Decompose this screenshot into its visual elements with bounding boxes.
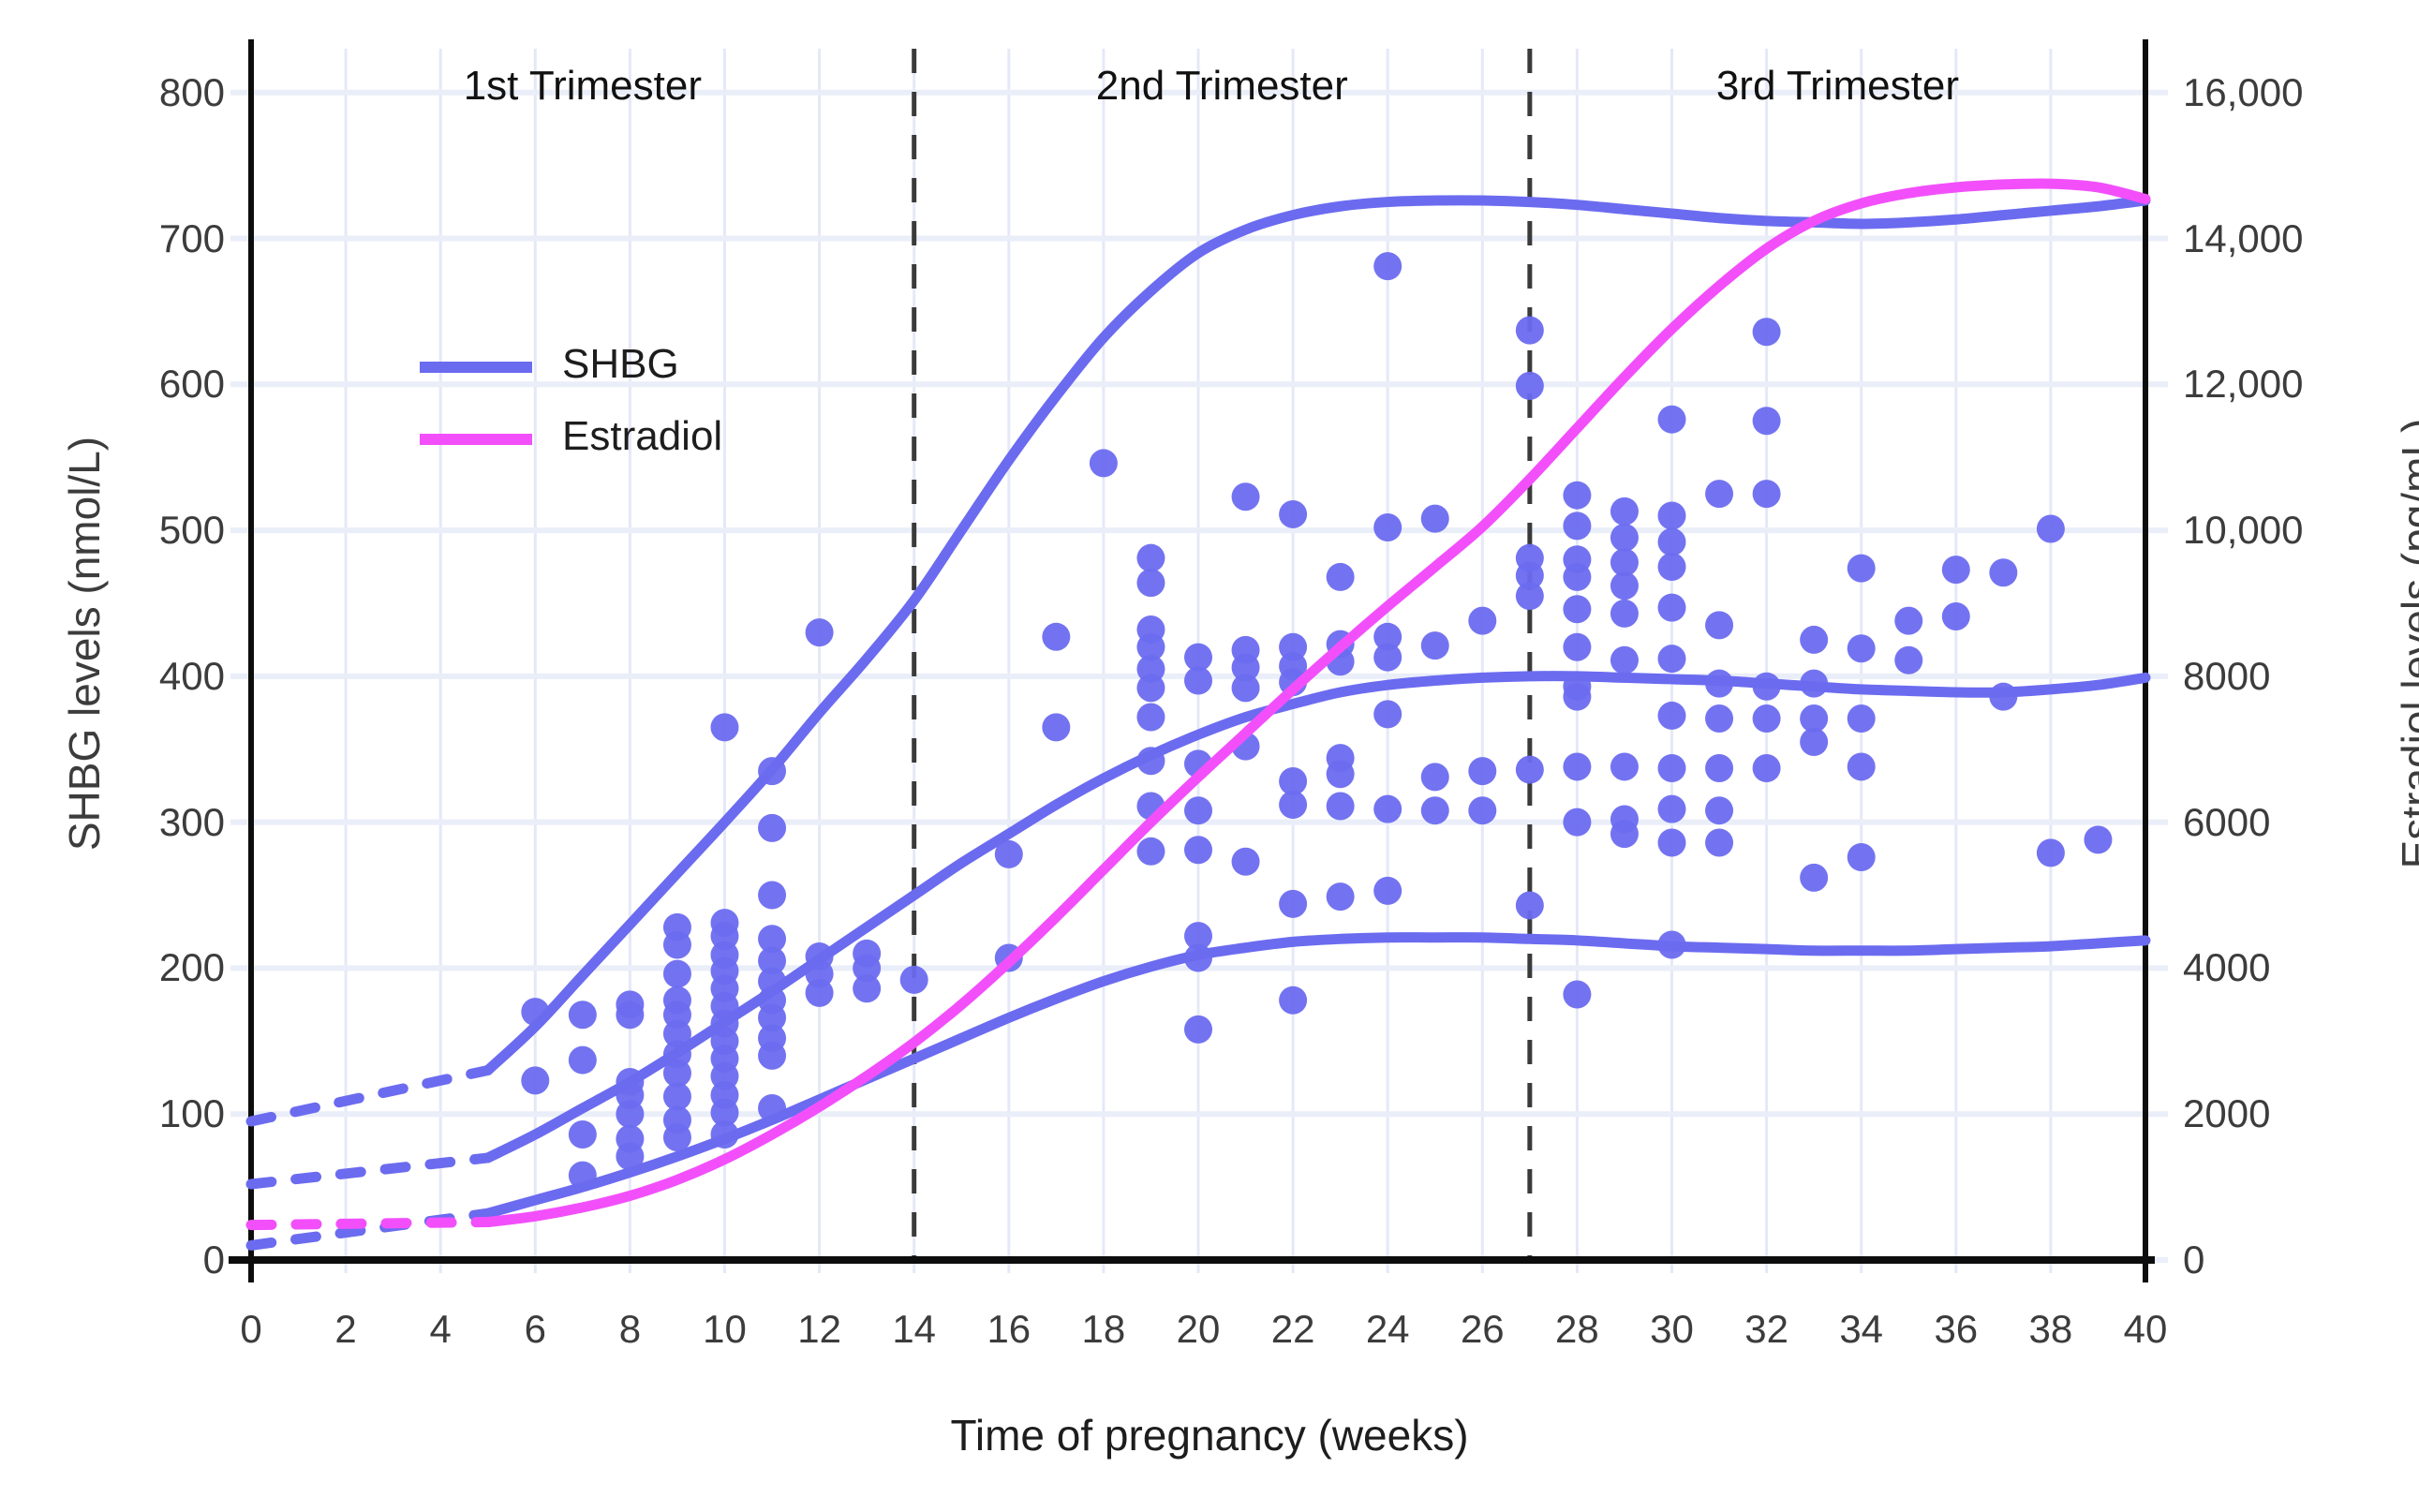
scatter-points bbox=[521, 252, 2112, 1190]
x-tick-label-8: 8 bbox=[619, 1307, 641, 1352]
x-tick-label-2: 2 bbox=[334, 1307, 356, 1352]
annotation-2nd-trimester: 2nd Trimester bbox=[1096, 63, 1348, 110]
x-axis-title: Time of pregnancy (weeks) bbox=[0, 1410, 2419, 1460]
x-tick-label-20: 20 bbox=[1177, 1307, 1221, 1352]
x-tick-label-10: 10 bbox=[703, 1307, 747, 1352]
y-left-tick-label-400: 400 bbox=[56, 654, 225, 699]
y-left-tick-label-100: 100 bbox=[56, 1091, 225, 1136]
y-right-tick-label-10000: 10,000 bbox=[2183, 508, 2303, 553]
x-tick-label-12: 12 bbox=[797, 1307, 841, 1352]
x-tick-label-26: 26 bbox=[1461, 1307, 1505, 1352]
chart-root: SHBG levels (nmol/L) Estradiol levels (p… bbox=[0, 0, 2419, 1512]
annotation-1st-trimester: 1st Trimester bbox=[464, 63, 702, 110]
x-tick-label-24: 24 bbox=[1366, 1307, 1410, 1352]
y-right-tick-label-16000: 16,000 bbox=[2183, 70, 2303, 115]
y-axis-right-title: Estradiol levels (pg/mL) bbox=[2392, 316, 2419, 971]
legend-swatches bbox=[420, 367, 532, 439]
x-tick-label-34: 34 bbox=[1839, 1307, 1883, 1352]
y-right-tick-label-12000: 12,000 bbox=[2183, 362, 2303, 407]
y-right-tick-label-14000: 14,000 bbox=[2183, 216, 2303, 261]
y-right-tick-label-0: 0 bbox=[2183, 1238, 2204, 1282]
x-tick-label-16: 16 bbox=[987, 1307, 1031, 1352]
y-left-tick-label-300: 300 bbox=[56, 800, 225, 845]
annotation-3rd-trimester: 3rd Trimester bbox=[1716, 63, 1959, 110]
y-right-tick-label-4000: 4000 bbox=[2183, 945, 2270, 990]
y-left-tick-label-700: 700 bbox=[56, 216, 225, 261]
chart-canvas bbox=[0, 0, 2419, 1512]
x-tick-label-22: 22 bbox=[1271, 1307, 1315, 1352]
x-tick-label-30: 30 bbox=[1650, 1307, 1694, 1352]
x-tick-label-6: 6 bbox=[525, 1307, 546, 1352]
y-right-tick-label-6000: 6000 bbox=[2183, 800, 2270, 845]
y-left-tick-label-600: 600 bbox=[56, 362, 225, 407]
x-tick-label-18: 18 bbox=[1082, 1307, 1126, 1352]
x-tick-label-40: 40 bbox=[2124, 1307, 2168, 1352]
legend-label-estradiol: Estradiol bbox=[562, 413, 722, 460]
y-left-tick-label-0: 0 bbox=[56, 1238, 225, 1282]
y-axis-left-title: SHBG levels (nmol/L) bbox=[59, 316, 110, 971]
x-tick-label-4: 4 bbox=[430, 1307, 452, 1352]
y-right-tick-label-2000: 2000 bbox=[2183, 1091, 2270, 1136]
y-left-tick-label-200: 200 bbox=[56, 945, 225, 990]
x-tick-label-0: 0 bbox=[240, 1307, 261, 1352]
y-left-tick-marks bbox=[230, 93, 251, 1260]
y-right-tick-label-8000: 8000 bbox=[2183, 654, 2270, 699]
x-tick-label-32: 32 bbox=[1744, 1307, 1788, 1352]
x-tick-label-14: 14 bbox=[892, 1307, 936, 1352]
y-left-tick-label-800: 800 bbox=[56, 70, 225, 115]
x-tick-label-38: 38 bbox=[2029, 1307, 2073, 1352]
x-tick-label-36: 36 bbox=[1934, 1307, 1978, 1352]
y-left-tick-label-500: 500 bbox=[56, 508, 225, 553]
legend-label-shbg: SHBG bbox=[562, 341, 679, 388]
x-tick-label-28: 28 bbox=[1555, 1307, 1599, 1352]
